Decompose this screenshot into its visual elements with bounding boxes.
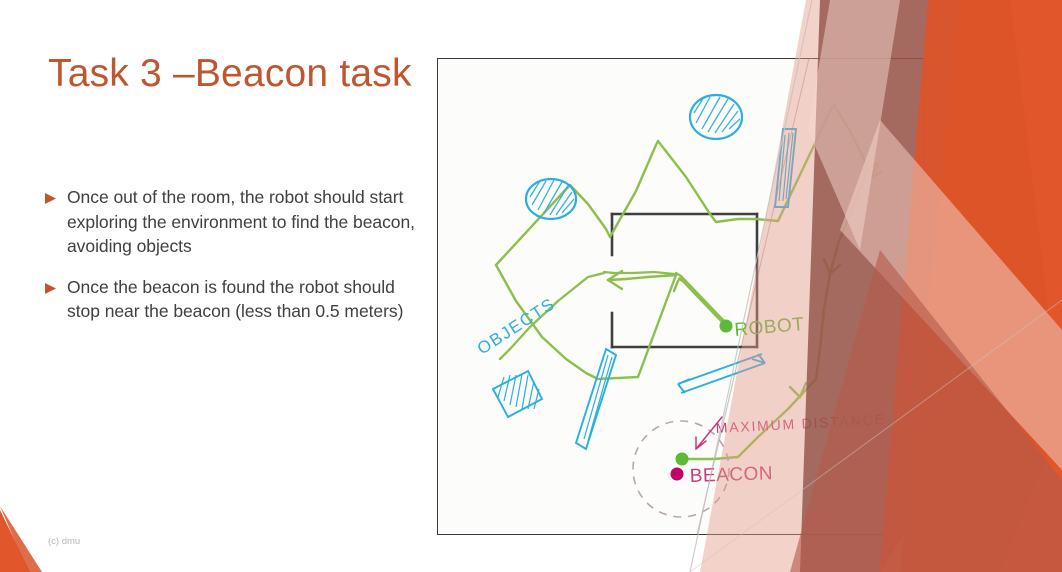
triangle-bullet-icon <box>44 282 58 295</box>
robot-path-from-robot <box>674 278 726 326</box>
page-title: Task 3 –Beacon task <box>48 52 412 96</box>
footer-copyright: (c) dmu <box>48 536 80 547</box>
label-maximum-distance: MAXIMUM DISTANCE <box>715 411 886 436</box>
deco-hairline <box>696 59 810 534</box>
triangle-bullet-icon <box>44 192 58 205</box>
object-ellipse-upper <box>690 95 742 139</box>
deco-left-sliver <box>0 510 30 572</box>
robot-dot <box>720 320 733 333</box>
object-bar-bottom-left <box>576 349 616 449</box>
goal-dot <box>676 453 689 466</box>
bullet-text: Once the beacon is found the robot shoul… <box>67 275 416 324</box>
label-objects: OBJECTS <box>474 294 559 358</box>
object-ellipse-left <box>526 179 576 219</box>
label-beacon: BEACON <box>689 463 773 487</box>
path-arrowheads <box>790 163 881 397</box>
list-item: Once the beacon is found the robot shoul… <box>44 275 416 324</box>
sketch-canvas: OBJECTS ROBOT MAXIMUM DISTANCE BEACON <box>438 59 923 534</box>
bullet-text: Once out of the room, the robot should s… <box>67 185 416 259</box>
deco-orange-band <box>900 0 1062 572</box>
slide: Task 3 –Beacon task Once out of the room… <box>0 0 1062 572</box>
object-square-lower-left <box>493 371 542 417</box>
beacon-dot <box>671 468 684 481</box>
object-bar-upper-right <box>775 129 796 207</box>
deco-left-sliver-2 <box>0 506 42 572</box>
bullet-list: Once out of the room, the robot should s… <box>44 185 416 340</box>
object-arrow-bar-middle <box>678 354 765 393</box>
label-robot: ROBOT <box>734 314 806 341</box>
list-item: Once out of the room, the robot should s… <box>44 185 416 259</box>
whiteboard-diagram: OBJECTS ROBOT MAXIMUM DISTANCE BEACON <box>437 58 924 535</box>
